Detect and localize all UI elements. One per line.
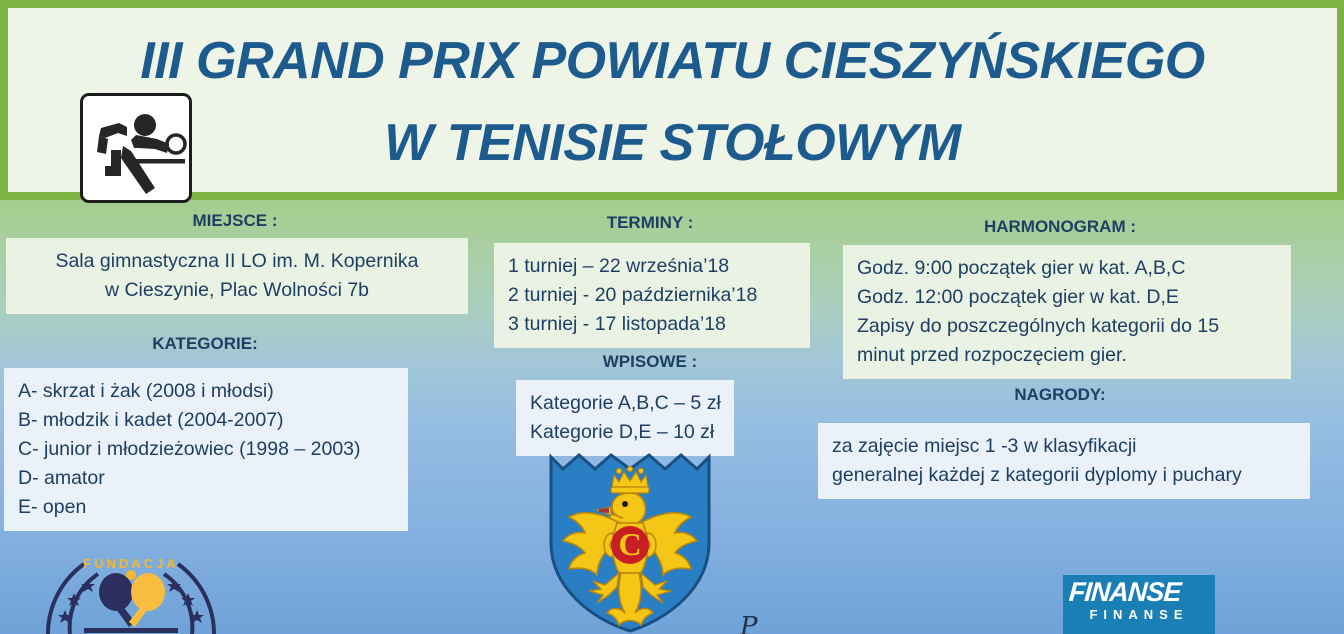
- miejsce-line-2: w Cieszynie, Plac Wolności 7b: [20, 276, 454, 305]
- panel-miejsce: Sala gimnastyczna II LO im. M. Kopernika…: [6, 238, 468, 314]
- kategorie-line-e: E- open: [18, 493, 394, 522]
- kategorie-line-a: A- skrzat i żak (2008 i młodsi): [18, 377, 394, 406]
- poster: III GRAND PRIX POWIATU CIESZYŃSKIEGO W T…: [0, 0, 1344, 634]
- panel-harmonogram: Godz. 9:00 początek gier w kat. A,B,C Go…: [843, 245, 1291, 379]
- panel-kategorie: A- skrzat i żak (2008 i młodsi) B- młodz…: [4, 368, 408, 531]
- kategorie-line-b: B- młodzik i kadet (2004-2007): [18, 406, 394, 435]
- nagrody-line-1: za zajęcie miejsc 1 -3 w klasyfikacji: [832, 432, 1296, 461]
- nagrody-line-2: generalnej każdej z kategorii dyplomy i …: [832, 461, 1296, 490]
- harmonogram-line-4: minut przed rozpoczęciem gier.: [857, 341, 1277, 370]
- page-title-line-2: W TENISIE STOŁOWYM: [8, 113, 1337, 173]
- header-box: III GRAND PRIX POWIATU CIESZYŃSKIEGO W T…: [8, 8, 1337, 192]
- coat-of-arms-icon: C: [539, 447, 721, 634]
- terminy-line-3: 3 turniej - 17 listopada’18: [508, 310, 796, 339]
- harmonogram-line-2: Godz. 12:00 początek gier w kat. D,E: [857, 283, 1277, 312]
- heading-wpisowe: WPISOWE :: [505, 352, 795, 372]
- fundacja-logo: FUNDACJA: [38, 548, 224, 634]
- terminy-line-2: 2 turniej - 20 października’18: [508, 281, 796, 310]
- heading-nagrody: NAGRODY:: [855, 385, 1265, 405]
- header-frame: III GRAND PRIX POWIATU CIESZYŃSKIEGO W T…: [0, 0, 1344, 200]
- panel-wpisowe: Kategorie A,B,C – 5 zł Kategorie D,E – 1…: [516, 380, 734, 456]
- panel-nagrody: za zajęcie miejsc 1 -3 w klasyfikacji ge…: [818, 423, 1310, 499]
- page-title-line-1: III GRAND PRIX POWIATU CIESZYŃSKIEGO: [8, 31, 1337, 91]
- harmonogram-line-1: Godz. 9:00 początek gier w kat. A,B,C: [857, 254, 1277, 283]
- finanse-logo-wordmark: FINANSE: [1068, 578, 1210, 606]
- table-tennis-pictogram: [80, 93, 192, 203]
- harmonogram-line-3: Zapisy do poszczególnych kategorii do 15: [857, 312, 1277, 341]
- heading-harmonogram: HARMONOGRAM :: [855, 217, 1265, 237]
- finanse-logo: FINANSE FINANSE: [1063, 575, 1215, 634]
- terminy-line-1: 1 turniej – 22 września’18: [508, 252, 796, 281]
- miejsce-line-1: Sala gimnastyczna II LO im. M. Kopernika: [20, 247, 454, 276]
- kategorie-line-c: C- junior i młodzieżowiec (1998 – 2003): [18, 435, 394, 464]
- fundacja-logo-text: FUNDACJA: [38, 556, 224, 571]
- panel-terminy: 1 turniej – 22 września’18 2 turniej - 2…: [494, 243, 810, 348]
- table-tennis-icon: [83, 96, 189, 200]
- signature-glyph: P: [740, 612, 830, 634]
- kategorie-line-d: D- amator: [18, 464, 394, 493]
- coat-of-arms-letter: C: [618, 526, 641, 562]
- heading-miejsce: MIEJSCE :: [55, 211, 415, 231]
- wpisowe-line-2: Kategorie D,E – 10 zł: [530, 418, 720, 447]
- heading-terminy: TERMINY :: [495, 213, 805, 233]
- cieszyn-coat-of-arms: C: [539, 447, 721, 634]
- finanse-logo-subtext: FINANSE: [1069, 606, 1209, 623]
- heading-kategorie: KATEGORIE:: [30, 334, 380, 354]
- wpisowe-line-1: Kategorie A,B,C – 5 zł: [530, 389, 720, 418]
